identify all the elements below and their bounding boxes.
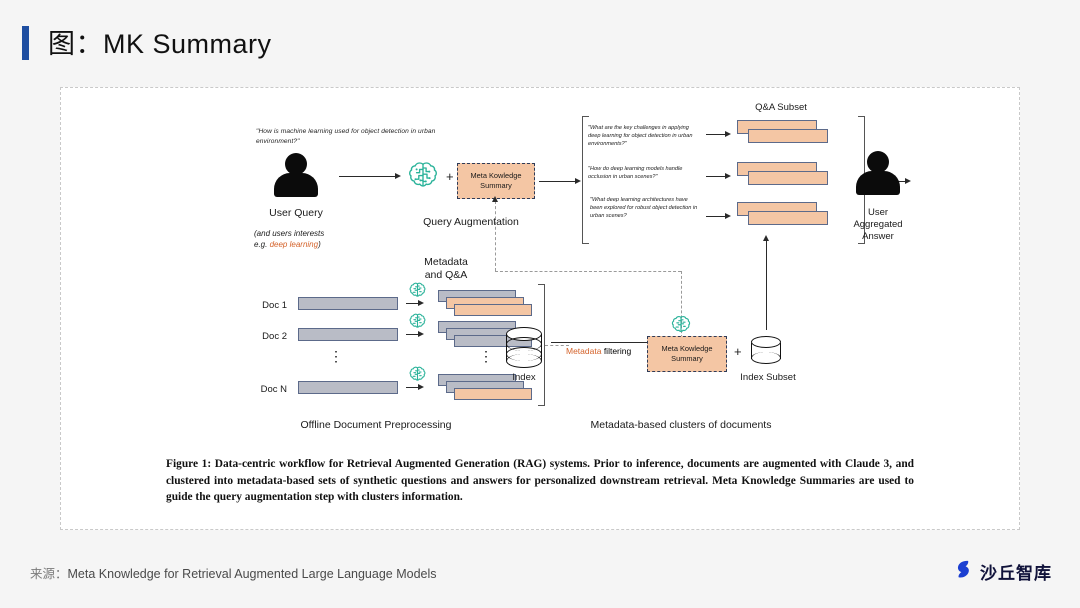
answer-line1: User (838, 207, 918, 219)
brain-icon-query (406, 159, 440, 198)
qa-subset-box-2b (748, 171, 828, 185)
index-subset-label: Index Subset (728, 372, 808, 384)
qa-subset-box-3b (748, 211, 828, 225)
user-interests-line1: (and users interests (254, 228, 384, 239)
figure-caption: Figure 1: Data-centric workflow for Retr… (166, 456, 914, 506)
dashed-line-up-to-mk (495, 201, 496, 271)
footer-source-title: Meta Knowledge for Retrieval Augmented L… (68, 567, 437, 581)
logo-text: 沙丘智库 (980, 559, 1052, 584)
aggregated-answer-label: User Aggregated Answer (838, 207, 918, 243)
arrow-q3-head (725, 213, 731, 219)
docn-stack-c (454, 388, 532, 400)
user-query-text: "How is machine learning used for object… (256, 127, 438, 146)
doc-bar-1 (298, 297, 398, 310)
arrow-subset-up-head (763, 235, 769, 241)
qa-question-1: "What are the key challenges in applying… (588, 124, 696, 149)
arrow-q2-head (725, 173, 731, 179)
arrow-mk-to-questions (539, 181, 577, 182)
mk-summary-box-cluster: Meta Kowledge Summary (647, 336, 727, 372)
answer-line3: Answer (838, 231, 918, 243)
user-query-person-icon (267, 153, 325, 199)
index-cylinder-icon (506, 327, 542, 361)
page-header: 图：MK Summary (0, 0, 1080, 85)
dashed-arrow-up-head (492, 196, 498, 202)
clusters-caption: Metadata-based clusters of documents (536, 419, 826, 432)
figure-canvas: "How is machine learning used for object… (61, 88, 1021, 448)
logo-mark-icon (953, 558, 975, 585)
footer-source-label: 来源： (30, 567, 68, 581)
arrow-user-to-brain (339, 176, 397, 177)
arrow-index-to-mk2 (551, 342, 661, 343)
filtering-suffix: filtering (601, 346, 631, 356)
doc1-stack-c (454, 304, 532, 316)
doc-bar-n (298, 381, 398, 394)
dashed-line-horizontal-mid (495, 271, 681, 272)
footer-source: 来源：Meta Knowledge for Retrieval Augmente… (30, 563, 437, 582)
mk-box-query-line2: Summary (471, 181, 522, 191)
brand-logo: 沙丘智库 (953, 558, 1052, 585)
aggregated-answer-person-icon (849, 151, 907, 197)
index-plus-sign: + (734, 344, 742, 359)
title-accent-bar (22, 26, 29, 60)
mk-box-query-line1: Meta Kowledge (471, 171, 522, 181)
arrow-q1-head (725, 131, 731, 137)
doc-label-2: Doc 2 (241, 331, 287, 343)
figure-card: "How is machine learning used for object… (60, 87, 1020, 530)
metadata-qa-title: Metadata and Q&A (401, 256, 491, 282)
user-query-label: User Query (246, 207, 346, 220)
mk-box-cluster-line1: Meta Kowledge (662, 344, 713, 354)
filtering-prefix: Metadata (566, 346, 601, 356)
arrow-user-to-brain-head (395, 173, 401, 179)
arrow-docn-head (418, 384, 424, 390)
user-interests-line2: e.g. deep learning) (254, 239, 384, 250)
query-plus-sign: + (446, 169, 454, 184)
doc-bar-2 (298, 328, 398, 341)
eg-prefix: e.g. (254, 240, 270, 249)
qa-subset-box-1b (748, 129, 828, 143)
query-augmentation-label: Query Augmentation (391, 216, 551, 229)
arrow-mk-to-questions-head (575, 178, 581, 184)
user-interest-highlight: deep learning (270, 240, 318, 249)
doc-ellipsis-right: ⋮ (476, 353, 496, 360)
user-interests-note: (and users interests e.g. deep learning) (254, 228, 384, 250)
page-title: 图：MK Summary (48, 22, 272, 61)
index-subset-cylinder-icon (751, 336, 781, 360)
eg-suffix: ) (318, 240, 321, 249)
index-label: Index (494, 372, 554, 384)
page-footer: 来源：Meta Knowledge for Retrieval Augmente… (0, 540, 1080, 608)
arrow-doc2-head (418, 331, 424, 337)
doc-label-n: Doc N (241, 384, 287, 396)
offline-preprocessing-caption: Offline Document Preprocessing (231, 419, 521, 432)
doc-label-1: Doc 1 (241, 300, 287, 312)
qa-subset-title: Q&A Subset (731, 102, 831, 114)
arrow-subset-up-to-qa (766, 240, 767, 330)
answer-line2: Aggregated (838, 219, 918, 231)
qa-question-3: "What deep learning architectures have b… (590, 196, 700, 221)
qa-question-2: "How do deep learning models handle occl… (588, 165, 696, 181)
mk-box-cluster-line2: Summary (662, 354, 713, 364)
mk-summary-box-query: Meta Kowledge Summary (457, 163, 535, 199)
arrow-doc1-head (418, 300, 424, 306)
doc-ellipsis-left: ⋮ (326, 353, 346, 360)
metadata-title-line1: Metadata (401, 256, 491, 269)
